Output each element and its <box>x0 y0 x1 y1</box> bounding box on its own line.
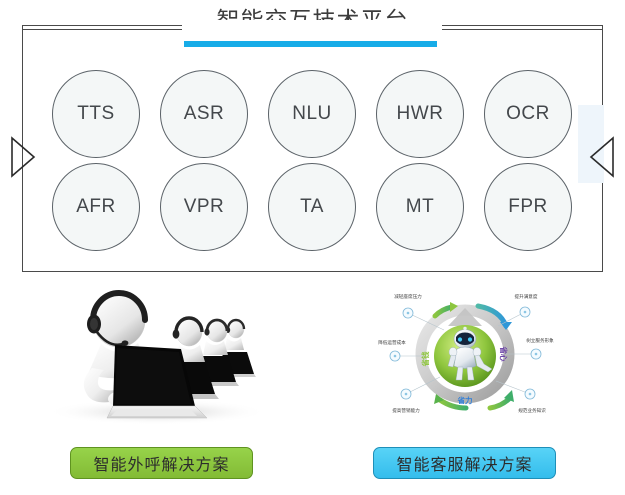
robot-benefit-wheel-illustration: 省钱 省心 省力 <box>340 282 590 427</box>
capability-row: TTS ASR NLU HWR OCR <box>52 70 572 158</box>
benefit-label-top-right: 提升满意度 <box>515 293 538 300</box>
capability-label: ASR <box>184 103 225 125</box>
benefit-label-bottom-left: 提高营销能力 <box>392 407 420 414</box>
ring-word-bottom: 省力 <box>457 395 473 405</box>
benefit-label-middle-left: 降低运营成本 <box>378 339 406 346</box>
outbound-solution-label: 智能外呼解决方案 <box>93 451 229 475</box>
outbound-solution-button[interactable]: 智能外呼解决方案 <box>70 447 253 479</box>
service-solution-label: 智能客服解决方案 <box>396 451 532 475</box>
capability-label: NLU <box>292 103 332 125</box>
capability-bubble-asr[interactable]: ASR <box>160 70 248 158</box>
frame-top-mask <box>182 20 442 31</box>
call-center-agents-illustration <box>37 282 287 427</box>
capability-label: OCR <box>506 103 550 125</box>
solutions-row: 智能外呼解决方案 <box>0 282 625 495</box>
capability-bubble-nlu[interactable]: NLU <box>268 70 356 158</box>
capability-bubble-hwr[interactable]: HWR <box>376 70 464 158</box>
capability-label: HWR <box>397 103 444 125</box>
capability-bubble-mt[interactable]: MT <box>376 163 464 251</box>
capability-bubble-vpr[interactable]: VPR <box>160 163 248 251</box>
capability-label: VPR <box>184 196 225 218</box>
benefit-label-middle-right: 树立服务形象 <box>526 337 554 344</box>
capability-label: TA <box>300 196 324 218</box>
solution-service: 省钱 省心 省力 <box>340 282 590 495</box>
capability-bubble-grid: TTS ASR NLU HWR OCR AFR VPR TA MT FPR <box>52 70 572 258</box>
solution-outbound: 智能外呼解决方案 <box>37 282 287 495</box>
capability-label: FPR <box>508 196 548 218</box>
service-solution-button[interactable]: 智能客服解决方案 <box>373 447 556 479</box>
capability-bubble-tts[interactable]: TTS <box>52 70 140 158</box>
capability-row: AFR VPR TA MT FPR <box>52 163 572 251</box>
capability-bubble-ocr[interactable]: OCR <box>484 70 572 158</box>
ring-word-left: 省钱 <box>420 351 430 367</box>
capability-label: TTS <box>77 103 114 125</box>
capability-bubble-afr[interactable]: AFR <box>52 163 140 251</box>
capability-bubble-fpr[interactable]: FPR <box>484 163 572 251</box>
benefit-label-bottom-right: 规范业务知识 <box>518 407 546 414</box>
capability-bubble-ta[interactable]: TA <box>268 163 356 251</box>
triangle-right-icon[interactable] <box>10 136 36 178</box>
capability-label: AFR <box>76 196 116 218</box>
triangle-left-icon[interactable] <box>589 136 615 178</box>
capability-label: MT <box>406 196 434 218</box>
benefit-label-top-left: 减轻座席压力 <box>394 293 422 300</box>
